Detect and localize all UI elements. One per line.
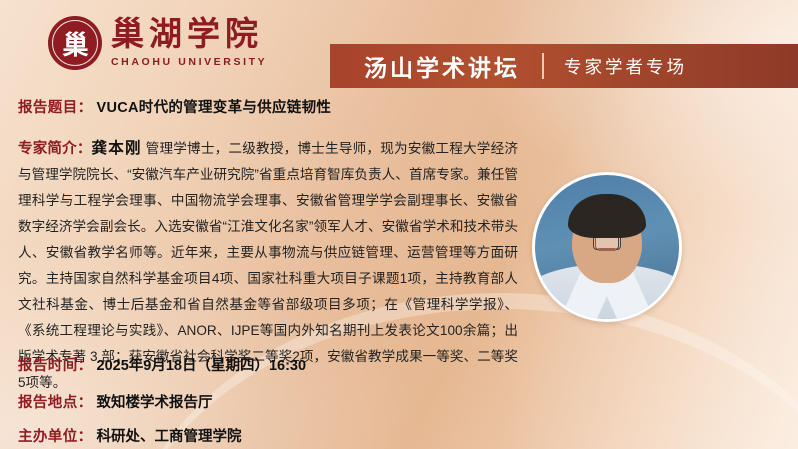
time-label: 报告时间： <box>18 354 93 375</box>
forum-subtitle: 专家学者专场 <box>564 54 687 79</box>
speaker-portrait <box>535 175 679 319</box>
place-label: 报告地点： <box>18 391 93 412</box>
topic-label: 报告题目： <box>18 96 93 117</box>
poster-canvas: 巢 巢湖学院 CHAOHU UNIVERSITY 汤山学术讲坛 专家学者专场 报… <box>0 0 798 449</box>
place-row: 报告地点： 致知楼学术报告厅 <box>18 391 213 412</box>
university-name-en: CHAOHU UNIVERSITY <box>111 56 267 68</box>
organizer-value: 科研处、工商管理学院 <box>97 425 242 446</box>
speaker-portrait-frame <box>532 172 682 322</box>
organizer-row: 主办单位： 科研处、工商管理学院 <box>18 425 242 446</box>
poster-header: 巢 巢湖学院 CHAOHU UNIVERSITY 汤山学术讲坛 专家学者专场 <box>0 0 798 88</box>
forum-divider <box>542 53 544 79</box>
speaker-name: 龚本刚 <box>92 140 142 157</box>
topic-value: VUCA时代的管理变革与供应链韧性 <box>97 96 332 117</box>
university-logo-block: 巢 巢湖学院 CHAOHU UNIVERSITY <box>48 16 267 70</box>
university-seal-icon: 巢 <box>48 16 102 70</box>
university-name-group: 巢湖学院 CHAOHU UNIVERSITY <box>111 18 267 68</box>
time-row: 报告时间： 2025年9月18日（星期四）16:30 <box>18 354 306 375</box>
portrait-hair <box>568 194 646 238</box>
forum-title: 汤山学术讲坛 <box>364 49 520 83</box>
university-name-cn: 巢湖学院 <box>111 18 267 53</box>
topic-row: 报告题目： VUCA时代的管理变革与供应链韧性 <box>18 96 331 117</box>
forum-banner: 汤山学术讲坛 专家学者专场 <box>330 44 798 88</box>
bio-text: 管理学博士，二级教授，博士生导师，现为安徽工程大学经济与管理学院院长、“安徽汽车… <box>18 141 518 390</box>
portrait-mouth <box>598 248 616 251</box>
university-seal-glyph: 巢 <box>48 16 102 70</box>
bio-label: 专家简介： <box>18 141 92 157</box>
place-value: 致知楼学术报告厅 <box>97 391 213 412</box>
organizer-label: 主办单位： <box>18 425 93 446</box>
time-value: 2025年9月18日（星期四）16:30 <box>97 354 307 375</box>
